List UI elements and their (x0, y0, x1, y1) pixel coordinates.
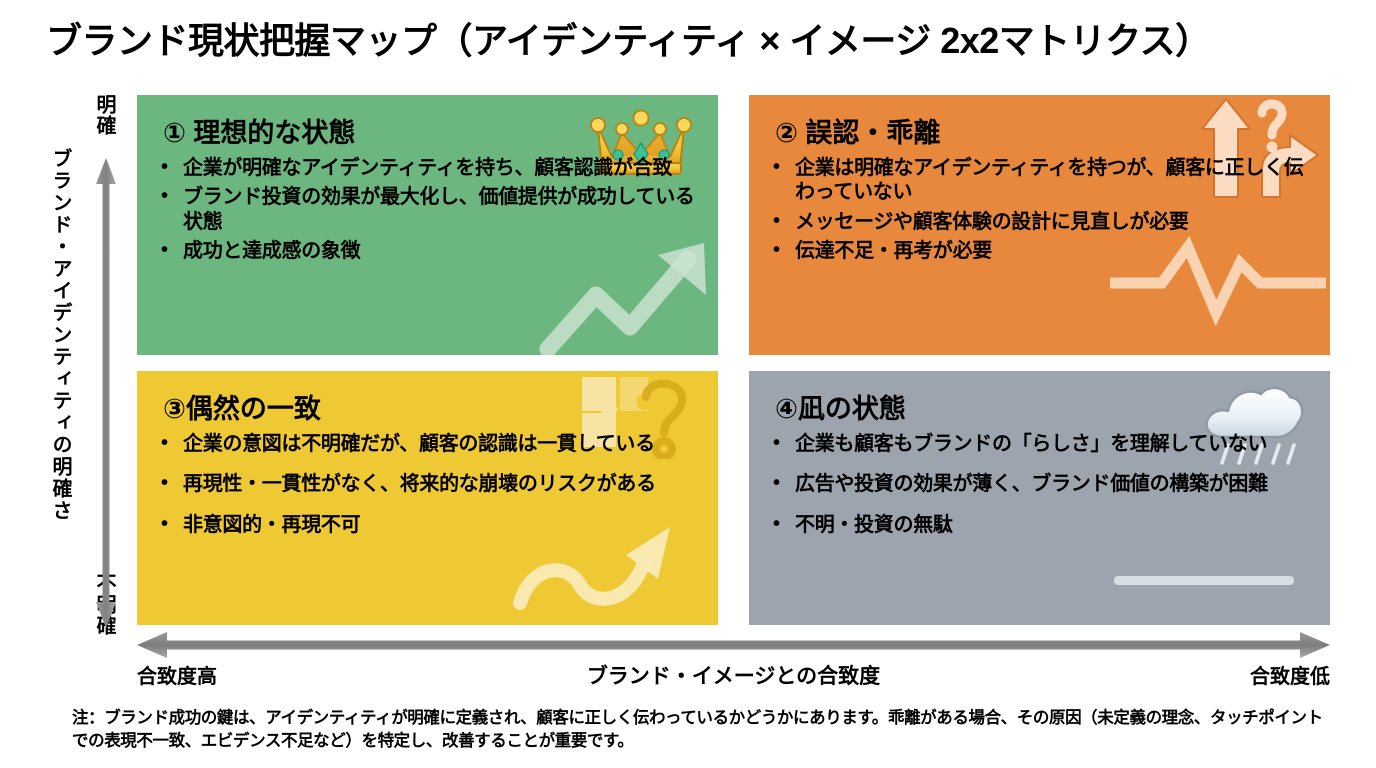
list-item: 非意図的・再現不可 (157, 513, 702, 537)
x-axis-right-label: 合致度低 (1250, 660, 1330, 689)
quadrant-3[interactable]: ③偶然の一致 企業の意図は不明確だが、顧客の認識は一貫している 再現性・一貫性が… (137, 371, 718, 625)
list-item: 再現性・一貫性がなく、将来的な崩壊のリスクがある (157, 472, 702, 496)
y-axis-double-arrow-icon (96, 158, 116, 628)
footnote: 注：ブランド成功の鍵は、アイデンティティが明確に定義され、顧客に正しく伝わってい… (72, 707, 1334, 754)
quadrant-1[interactable]: ① 理想的な状態 企業が明確なアイデンティティを持ち、顧客認識が合致 ブランド投… (137, 95, 718, 355)
page-title: ブランド現状把握マップ（アイデンティティ × イメージ 2x2マトリクス） (46, 12, 1346, 64)
list-item: 企業は明確なアイデンティティを持つが、顧客に正しく伝わっていない (769, 156, 1314, 205)
quadrant-4[interactable]: ④凪の状態 企業も顧客もブランドの「らしさ」を理解していない 広告や投資の効果が… (749, 371, 1330, 625)
flat-line-icon (1114, 573, 1294, 589)
list-item: 企業が明確なアイデンティティを持ち、顧客認識が合致 (157, 156, 683, 180)
quadrant-2[interactable]: ② 誤認・乖離 企業は明確なアイデンティティを持つが、顧客に正しく伝わっていない… (749, 95, 1330, 355)
quadrant-2-title: ② 誤認・乖離 (775, 111, 1314, 150)
x-axis: 合致度高 ブランド・イメージとの合致度 合致度低 (137, 632, 1330, 694)
x-axis-double-arrow-icon (137, 632, 1330, 658)
quadrant-3-bullet-list: 企業の意図は不明確だが、顧客の認識は一貫している 再現性・一貫性がなく、将来的な… (153, 432, 702, 537)
list-item: 広告や投資の効果が薄く、ブランド価値の構築が困難 (769, 472, 1314, 496)
x-axis-title: ブランド・イメージとの合致度 (137, 660, 1330, 690)
list-item: 企業も顧客もブランドの「らしさ」を理解していない (769, 432, 1314, 456)
list-item: ブランド投資の効果が最大化し、価値提供が成功している状態 (157, 185, 699, 234)
quadrant-4-bullet-list: 企業も顧客もブランドの「らしさ」を理解していない 広告や投資の効果が薄く、ブラン… (765, 432, 1314, 537)
list-item: 企業の意図は不明確だが、顧客の認識は一貫している (157, 432, 702, 456)
list-item: 不明・投資の無駄 (769, 513, 1314, 537)
quadrant-4-title: ④凪の状態 (775, 387, 1314, 426)
list-item: メッセージや顧客体験の設計に見直しが必要 (769, 210, 1314, 234)
y-axis-top-label: 明確 (90, 94, 119, 136)
y-axis-title: ブランド・アイデンティティの明確さ (46, 148, 75, 588)
list-item: 成功と達成感の象徴 (157, 239, 702, 263)
list-item: 伝達不足・再考が必要 (769, 239, 1314, 263)
quadrant-1-bullet-list: 企業が明確なアイデンティティを持ち、顧客認識が合致 ブランド投資の効果が最大化し… (153, 156, 702, 264)
quadrant-3-title: ③偶然の一致 (163, 387, 702, 426)
quadrant-1-title: ① 理想的な状態 (163, 111, 702, 150)
y-axis: 明確 ブランド・アイデンティティの明確さ 不明確 (0, 90, 137, 638)
quadrant-2-bullet-list: 企業は明確なアイデンティティを持つが、顧客に正しく伝わっていない メッセージや顧… (765, 156, 1314, 264)
matrix-grid: ① 理想的な状態 企業が明確なアイデンティティを持ち、顧客認識が合致 ブランド投… (137, 95, 1330, 625)
